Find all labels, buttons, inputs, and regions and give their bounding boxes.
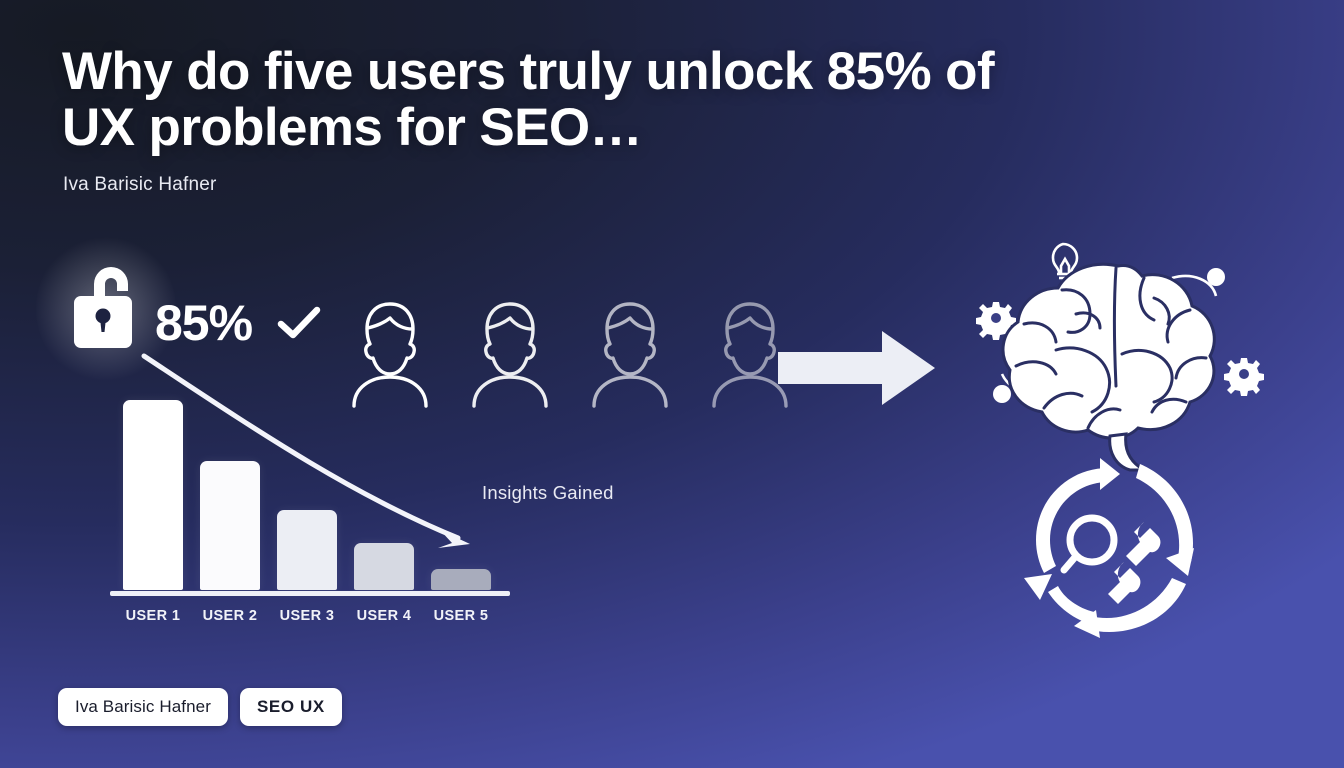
infographic-canvas: Why do five users truly unlock 85% of UX… <box>0 0 1344 768</box>
tag-author[interactable]: Iva Barisic Hafner <box>58 688 228 726</box>
author-name: Iva Barisic Hafner <box>63 174 217 196</box>
brain-illustration <box>958 222 1288 477</box>
right-arrow-icon <box>778 330 936 406</box>
brain-icon <box>1003 264 1214 470</box>
stat-value: 85% <box>155 294 252 352</box>
user-silhouette-icon <box>468 296 552 408</box>
unlock-icon <box>68 258 146 358</box>
chart-bar <box>277 510 337 590</box>
page-title: Why do five users truly unlock 85% of UX… <box>62 44 1022 156</box>
chart-x-label: USER 5 <box>431 608 491 624</box>
tag-row: Iva Barisic Hafner SEO UX <box>58 688 342 726</box>
tag-topics[interactable]: SEO UX <box>240 688 342 726</box>
chart-axis-line <box>110 591 510 596</box>
user-figures-group <box>348 296 792 408</box>
iteration-cycle-icon <box>1008 452 1208 642</box>
chart-bar <box>200 461 260 590</box>
insights-bar-chart: USER 1 USER 2 USER 3 USER 4 USER 5 <box>110 398 520 638</box>
chart-bars <box>110 400 520 590</box>
magnifying-glass-icon <box>1064 518 1114 570</box>
checkmark-icon <box>277 306 321 342</box>
unlock-stat-group <box>58 252 154 364</box>
chart-x-label: USER 4 <box>354 608 414 624</box>
chart-x-labels: USER 1 USER 2 USER 3 USER 4 USER 5 <box>110 608 530 624</box>
chart-bar <box>354 543 414 591</box>
chart-x-label: USER 2 <box>200 608 260 624</box>
chart-x-label: USER 3 <box>277 608 337 624</box>
gear-icon <box>1224 358 1264 396</box>
chart-bar <box>123 400 183 590</box>
chart-bar <box>431 569 491 590</box>
user-silhouette-icon <box>348 296 432 408</box>
user-silhouette-icon <box>588 296 672 408</box>
iteration-cycle-illustration <box>1008 452 1208 647</box>
chart-x-label: USER 1 <box>123 608 183 624</box>
chart-annotation: Insights Gained <box>482 482 614 504</box>
